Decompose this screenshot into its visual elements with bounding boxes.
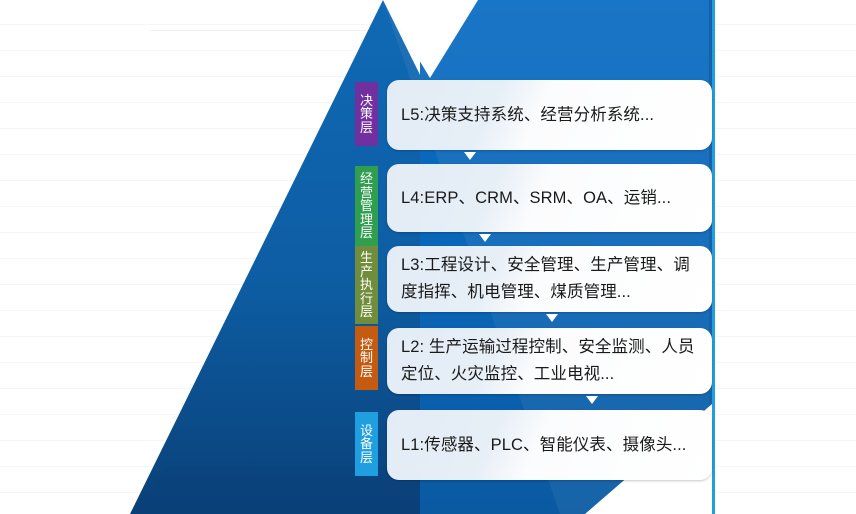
badge-char: 层 bbox=[360, 121, 373, 135]
badge-char: 管 bbox=[360, 199, 373, 213]
badge-char: 层 bbox=[360, 305, 373, 319]
layer-card-l5[interactable]: L5:决策支持系统、经营分析系统... bbox=[387, 80, 712, 150]
badge-char: 行 bbox=[360, 292, 373, 306]
layer-badge-l3[interactable]: 生 产 执 行 层 bbox=[355, 246, 378, 324]
badge-char: 执 bbox=[360, 278, 373, 292]
badge-char: 层 bbox=[360, 451, 373, 465]
layer-marker-l4 bbox=[479, 234, 491, 242]
layer-card-text: L2: 生产运输过程控制、安全监测、人员定位、火灾监控、工业电视... bbox=[401, 334, 698, 388]
layer-card-text: L3:工程设计、安全管理、生产管理、调度指挥、机电管理、煤质管理... bbox=[401, 252, 698, 306]
badge-char: 设 bbox=[360, 424, 373, 438]
badge-char: 决 bbox=[360, 94, 373, 108]
badge-char: 层 bbox=[360, 226, 373, 240]
badge-char: 控 bbox=[360, 338, 373, 352]
badge-char: 营 bbox=[360, 186, 373, 200]
layer-marker-l5 bbox=[464, 152, 476, 160]
badge-char: 制 bbox=[360, 351, 373, 365]
layer-card-text: L4:ERP、CRM、SRM、OA、运销... bbox=[401, 185, 671, 212]
layer-card-l4[interactable]: L4:ERP、CRM、SRM、OA、运销... bbox=[387, 164, 712, 232]
layer-badge-l5[interactable]: 决 策 层 bbox=[355, 82, 378, 146]
badge-char: 生 bbox=[360, 251, 373, 265]
badge-char: 产 bbox=[360, 265, 373, 279]
layer-card-l1[interactable]: L1:传感器、PLC、智能仪表、摄像头... bbox=[387, 410, 712, 480]
badge-char: 层 bbox=[360, 365, 373, 379]
badge-char: 经 bbox=[360, 172, 373, 186]
layer-badge-l1[interactable]: 设 备 层 bbox=[355, 412, 378, 476]
panel-edge-strip bbox=[712, 0, 715, 514]
badge-char: 理 bbox=[360, 213, 373, 227]
layer-card-l3[interactable]: L3:工程设计、安全管理、生产管理、调度指挥、机电管理、煤质管理... bbox=[387, 246, 712, 312]
badge-char: 策 bbox=[360, 107, 373, 121]
layer-badge-l2[interactable]: 控 制 层 bbox=[355, 326, 378, 390]
layer-card-l2[interactable]: L2: 生产运输过程控制、安全监测、人员定位、火灾监控、工业电视... bbox=[387, 328, 712, 394]
layer-card-text: L5:决策支持系统、经营分析系统... bbox=[401, 102, 654, 129]
layer-card-text: L1:传感器、PLC、智能仪表、摄像头... bbox=[401, 432, 687, 459]
slide-canvas: 决 策 层 L5:决策支持系统、经营分析系统... 经 营 管 理 层 L4:E… bbox=[0, 0, 856, 514]
layer-marker-l2 bbox=[586, 396, 598, 404]
badge-char: 备 bbox=[360, 437, 373, 451]
layer-marker-l3 bbox=[546, 314, 558, 322]
layer-badge-l4[interactable]: 经 营 管 理 层 bbox=[355, 166, 378, 246]
